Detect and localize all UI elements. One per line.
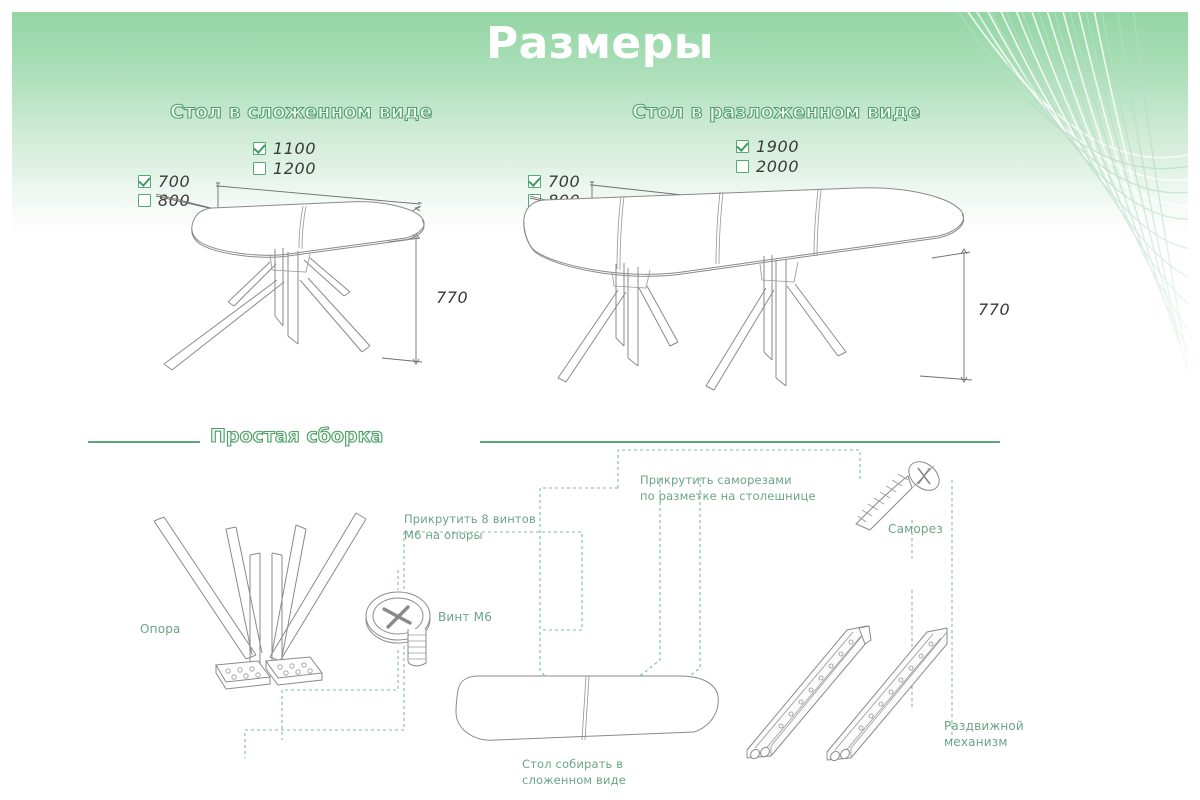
heading-extended-table: Стол в разложенном виде (632, 101, 920, 123)
bolt-m6-icon (362, 583, 442, 669)
page-title: Размеры (0, 18, 1200, 69)
instruction-sheet: Размеры Стол в сложенном виде 700 800 11… (0, 0, 1200, 800)
extended-table-drawing (520, 130, 1000, 400)
note-folded-warning: Стол собирать в сложенном виде (522, 757, 626, 788)
slide-mechanism-drawing (735, 600, 965, 765)
part-label-bolt-m6: Винт М6 (438, 609, 492, 625)
folded-table-drawing (120, 130, 480, 390)
heading-folded-table: Стол в сложенном виде (170, 101, 432, 123)
part-label-slide-mechanism: Раздвижной механизм (944, 718, 1024, 750)
note-screws: Прикрутить саморезами по разметке на сто… (640, 473, 816, 504)
tabletop-underside-drawing (440, 670, 730, 750)
part-label-screw: Саморез (888, 521, 943, 537)
note-bolts: Прикрутить 8 винтов М6 на опоры (404, 512, 536, 543)
part-label-support: Опора (140, 621, 181, 637)
